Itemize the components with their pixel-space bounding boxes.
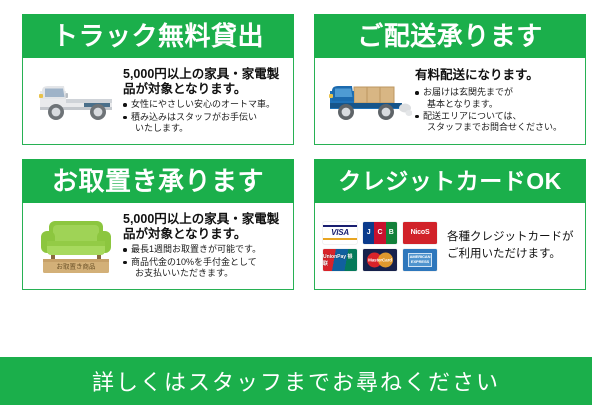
bullet-cont: いたします。 [131,123,287,134]
mastercard-card-icon: MasterCard [363,249,397,271]
panel-credit-card-title: クレジットカードOK [338,170,562,193]
panel-layaway-body: お取置き商品 5,000円以上の家具・家電製品が対象となります。 最長1週間お取… [22,203,294,290]
panel-truck-rental-header: トラック無料貸出 [22,14,294,58]
panel-credit-card-header: クレジットカードOK [314,159,586,203]
bullet-item: 女性にやさしい安心のオートマ車。 [123,99,287,110]
white-kei-truck-icon [28,75,123,127]
panel-truck-rental-title: トラック無料貸出 [52,23,264,49]
panel-delivery-title: ご配送承ります [357,23,543,49]
panel-delivery-bullets: お届けは玄関先までが 基本となります。 配送エリアについては、 スタッフまでお問… [415,87,579,133]
bullet-main: 配送エリアについては、 [423,111,522,121]
unionpay-label: UnionPay 银联 [323,253,357,267]
panel-delivery-lead: 有料配送になります。 [415,68,579,83]
panel-truck-rental-bullets: 女性にやさしい安心のオートマ車。 積み込みはスタッフがお手伝い いたします。 [123,99,287,134]
nicos-card-icon: NicoS [403,222,437,244]
sofa-platform-label: お取置き商品 [56,262,95,271]
accepted-cards-list: VISA JCB NicoS [320,222,441,271]
panel-layaway-text: 5,000円以上の家具・家電製品が対象となります。 最長1週間お取置きが可能です… [123,212,287,280]
unionpay-card-icon: UnionPay 银联 [323,249,357,271]
bullet-cont: 基本となります。 [423,99,579,110]
panel-delivery: ご配送承ります [314,14,586,145]
panel-layaway-bullets: 最長1週間お取置きが可能です。 商品代金の10%を手付金として お支払いいただき… [123,244,287,279]
blue-delivery-truck-icon [320,75,415,127]
panel-truck-rental: トラック無料貸出 [22,14,294,145]
bullet-main: 商品代金の10%を手付金として [131,257,257,267]
bullet-item: 商品代金の10%を手付金として お支払いいただきます。 [123,257,287,280]
panel-credit-card: クレジットカードOK VISA JCB [314,159,586,290]
promo-poster: トラック無料貸出 [0,0,600,405]
green-sofa-icon: お取置き商品 [28,215,123,277]
panel-truck-rental-lead: 5,000円以上の家具・家電製品が対象となります。 [123,67,287,97]
panel-layaway-title: お取置き承ります [52,168,264,194]
bullet-item: お届けは玄関先までが 基本となります。 [415,87,579,110]
panel-layaway: お取置き承ります お取置き商品 [22,159,294,290]
card-row-top: VISA JCB NicoS [323,222,441,244]
footer-banner-text: 詳しくはスタッフまでお尋ねください [92,365,500,397]
mastercard-label: MasterCard [363,257,397,262]
panel-delivery-text: 有料配送になります。 お届けは玄関先までが 基本となります。 配送エリアについて… [415,68,579,135]
panel-layaway-header: お取置き承ります [22,159,294,203]
amex-label: AMERICAN EXPRESS [408,253,432,267]
bullet-main: 女性にやさしい安心のオートマ車。 [131,99,275,109]
jcb-card-icon: JCB [363,222,397,244]
visa-label: VISA [331,228,349,237]
amex-card-icon: AMERICAN EXPRESS [403,249,437,271]
panel-grid: トラック無料貸出 [22,14,586,290]
panel-truck-rental-text: 5,000円以上の家具・家電製品が対象となります。 女性にやさしい安心のオートマ… [123,67,287,135]
panel-delivery-body: 有料配送になります。 お届けは玄関先までが 基本となります。 配送エリアについて… [314,58,586,145]
panel-credit-card-body: VISA JCB NicoS [314,203,586,290]
bullet-main: 積み込みはスタッフがお手伝い [131,112,257,122]
panel-delivery-header: ご配送承ります [314,14,586,58]
bullet-item: 積み込みはスタッフがお手伝い いたします。 [123,112,287,135]
card-row-bottom: UnionPay 银联 MasterCard AMERICAN EXPRESS [323,249,441,271]
panel-layaway-lead: 5,000円以上の家具・家電製品が対象となります。 [123,212,287,242]
bullet-main: 最長1週間お取置きが可能です。 [131,244,261,254]
bullet-cont: お支払いいただきます。 [131,268,287,279]
bullet-item: 最長1週間お取置きが可能です。 [123,244,287,255]
bullet-cont: スタッフまでお問合せください。 [423,122,579,133]
bullet-main: お届けは玄関先までが [423,87,513,97]
bullet-item: 配送エリアについては、 スタッフまでお問合せください。 [415,111,579,134]
visa-card-icon: VISA [323,222,357,244]
panel-truck-rental-body: 5,000円以上の家具・家電製品が対象となります。 女性にやさしい安心のオートマ… [22,58,294,145]
footer-banner: 詳しくはスタッフまでお尋ねください [0,357,592,405]
nicos-label: NicoS [411,229,430,236]
panel-credit-card-text: 各種クレジットカードがご利用いただけます。 [441,229,579,264]
